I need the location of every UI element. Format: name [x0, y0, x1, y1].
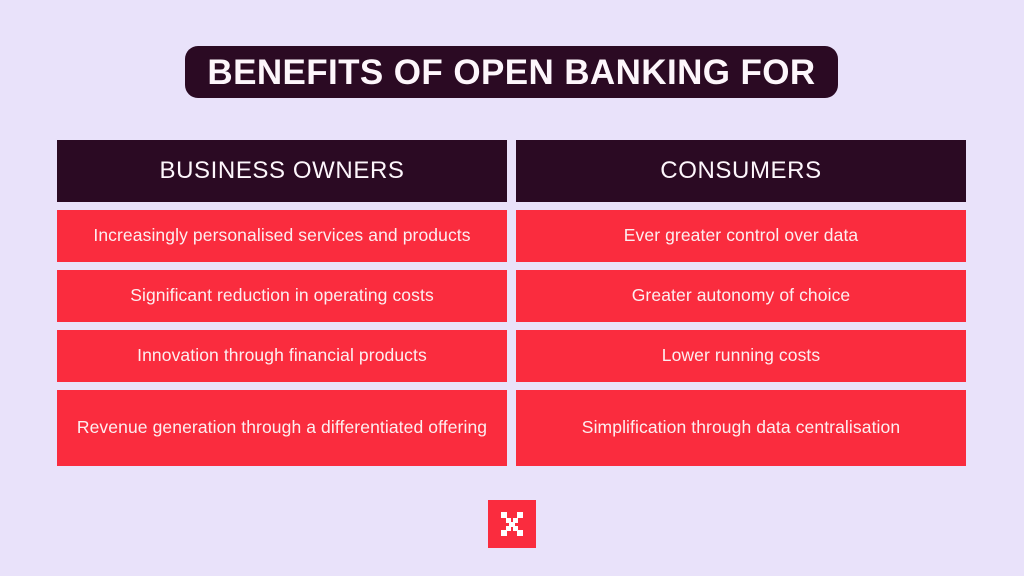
benefit-text: Ever greater control over data	[624, 224, 859, 247]
benefit-text: Innovation through financial products	[137, 344, 427, 367]
page-title: BENEFITS OF OPEN BANKING FOR	[207, 55, 815, 90]
benefits-table: BUSINESS OWNERS Increasingly personalise…	[57, 140, 966, 466]
slide-title-banner: BENEFITS OF OPEN BANKING FOR	[185, 46, 838, 98]
benefit-text: Increasingly personalised services and p…	[93, 224, 470, 247]
column-header-consumers: CONSUMERS	[516, 140, 966, 202]
benefit-text: Lower running costs	[662, 344, 821, 367]
table-column-business-owners: BUSINESS OWNERS Increasingly personalise…	[57, 140, 507, 466]
table-row: Innovation through financial products	[57, 330, 507, 382]
benefit-text: Greater autonomy of choice	[632, 284, 851, 307]
pixel-x-icon	[488, 500, 536, 548]
table-row: Increasingly personalised services and p…	[57, 210, 507, 262]
table-row: Simplification through data centralisati…	[516, 390, 966, 466]
benefit-text: Significant reduction in operating costs	[130, 284, 434, 307]
column-header-label: BUSINESS OWNERS	[159, 158, 404, 184]
table-row: Greater autonomy of choice	[516, 270, 966, 322]
column-header-label: CONSUMERS	[660, 158, 821, 184]
benefit-text: Revenue generation through a differentia…	[77, 416, 487, 439]
slide-canvas: BENEFITS OF OPEN BANKING FOR BUSINESS OW…	[0, 0, 1024, 576]
table-row: Significant reduction in operating costs	[57, 270, 507, 322]
table-column-consumers: CONSUMERS Ever greater control over data…	[516, 140, 966, 466]
column-header-business-owners: BUSINESS OWNERS	[57, 140, 507, 202]
table-row: Revenue generation through a differentia…	[57, 390, 507, 466]
table-row: Ever greater control over data	[516, 210, 966, 262]
benefit-text: Simplification through data centralisati…	[582, 416, 900, 439]
table-row: Lower running costs	[516, 330, 966, 382]
